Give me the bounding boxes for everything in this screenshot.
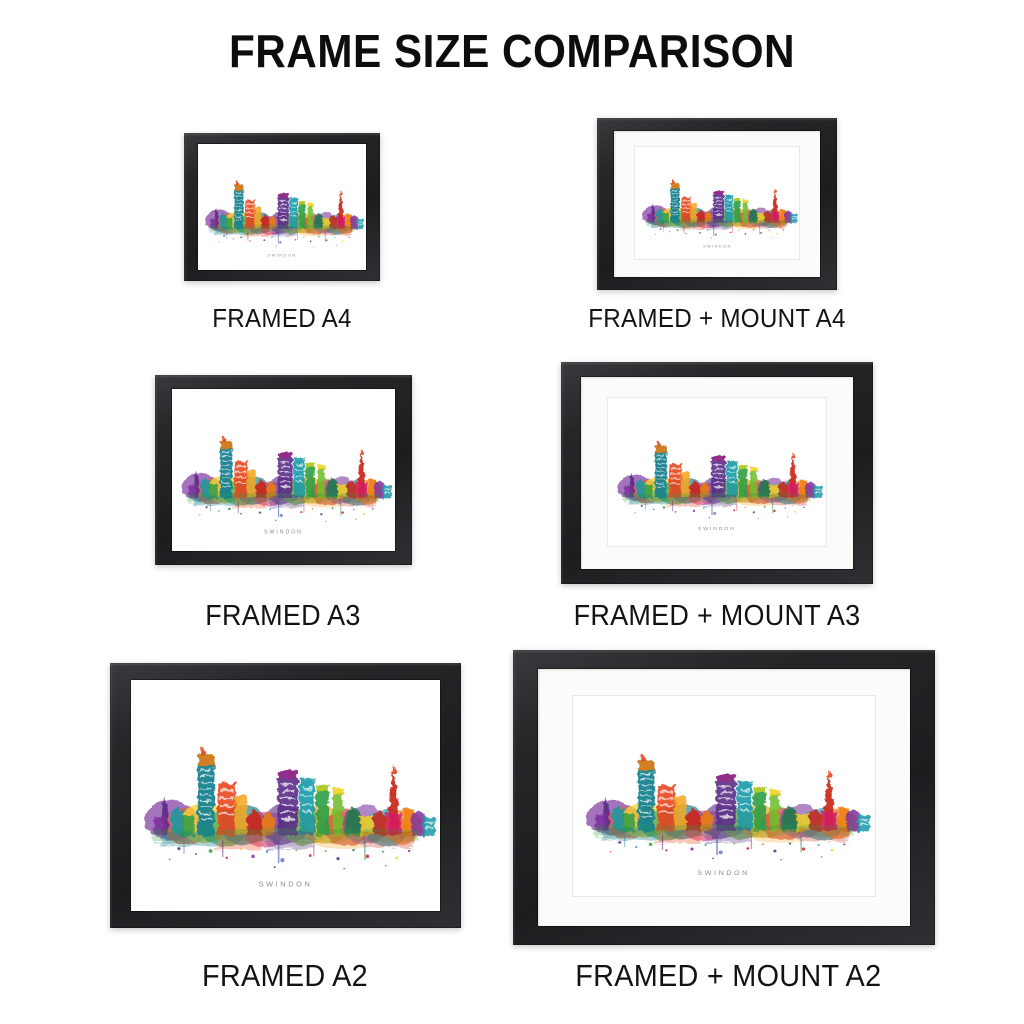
frame-print-area <box>538 669 910 926</box>
frame-card-framed-mount-a2[interactable] <box>513 650 935 945</box>
skyline-artwork <box>198 144 366 270</box>
picture-frame-moulding <box>561 362 873 584</box>
caption-framed-mount-a2: FRAMED + MOUNT A2 <box>575 958 873 994</box>
picture-frame-moulding <box>110 663 461 928</box>
skyline-artwork <box>172 389 395 551</box>
picture-frame-moulding <box>597 118 837 290</box>
frame-print-area <box>581 377 853 569</box>
skyline-artwork <box>131 680 440 911</box>
skyline-artwork <box>573 696 874 896</box>
page-title: FRAME SIZE COMPARISON <box>41 24 983 78</box>
mount-board <box>538 669 910 926</box>
mount-board <box>614 131 820 277</box>
mount-window <box>635 147 800 259</box>
mount-window <box>608 398 826 546</box>
caption-framed-a2: FRAMED A2 <box>192 958 378 994</box>
frame-card-framed-a3[interactable] <box>155 375 412 565</box>
frame-card-framed-mount-a4[interactable] <box>597 118 837 290</box>
mount-window <box>573 696 874 896</box>
frame-print-area <box>198 144 366 270</box>
skyline-artwork <box>608 398 826 546</box>
frame-print-area <box>614 131 820 277</box>
frame-card-framed-a2[interactable] <box>110 663 461 928</box>
frame-print-area <box>172 389 395 551</box>
caption-framed-a4: FRAMED A4 <box>189 303 375 334</box>
caption-framed-mount-a3: FRAMED + MOUNT A3 <box>568 600 866 633</box>
picture-frame-moulding <box>184 133 380 281</box>
caption-framed-mount-a4: FRAMED + MOUNT A4 <box>568 303 866 334</box>
frame-card-framed-mount-a3[interactable] <box>561 362 873 584</box>
picture-frame-moulding <box>155 375 412 565</box>
picture-frame-moulding <box>513 650 935 945</box>
frame-card-framed-a4[interactable] <box>184 133 380 281</box>
frame-print-area <box>131 680 440 911</box>
caption-framed-a3: FRAMED A3 <box>190 600 376 633</box>
skyline-artwork <box>635 147 800 259</box>
mount-board <box>581 377 853 569</box>
